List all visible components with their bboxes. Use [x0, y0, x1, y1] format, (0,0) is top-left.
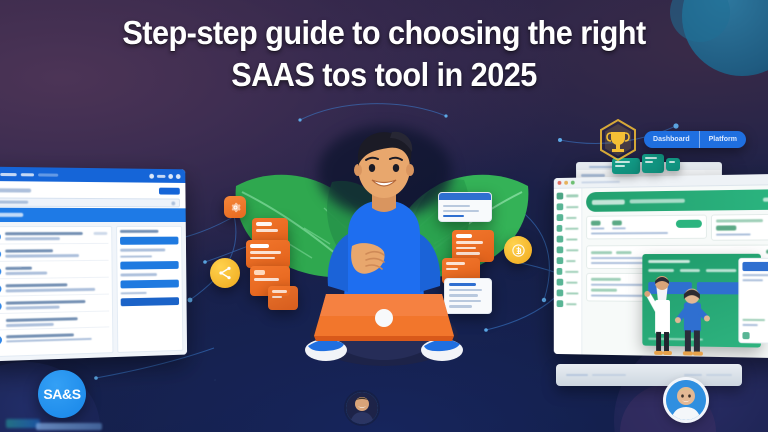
- floating-card-orange-4[interactable]: [268, 286, 298, 310]
- nav-label-a: [157, 174, 166, 177]
- search-icon: [171, 201, 175, 205]
- hero-banner: Step-step guide to choosing the right SA…: [0, 0, 768, 432]
- headline-line-1: Step-step guide to choosing the right: [51, 12, 717, 54]
- list-item[interactable]: [0, 281, 109, 297]
- saas-brand-label: SA&S: [43, 386, 80, 402]
- nav-item-home[interactable]: [0, 172, 16, 175]
- list-item[interactable]: [0, 298, 109, 315]
- avatar-center[interactable]: [346, 392, 378, 424]
- sidebar-item-docs[interactable]: [557, 289, 579, 296]
- saas-brand-caption: [36, 423, 102, 430]
- notification-icon[interactable]: [149, 173, 154, 178]
- side-action-assign[interactable]: [120, 237, 179, 245]
- right-dashboard-stand: [556, 364, 742, 386]
- sidebar-item-reports[interactable]: [557, 214, 579, 221]
- list-item[interactable]: [0, 247, 108, 262]
- left-dashboard-nav-actions: [149, 173, 180, 178]
- nav-item-reports[interactable]: [21, 173, 34, 176]
- saas-brand-badge[interactable]: SA&S: [38, 370, 86, 418]
- left-dashboard-mockup[interactable]: [0, 167, 187, 362]
- headline-line-2: SAAS tos tool in 2025: [51, 54, 717, 96]
- coin-glyph: [511, 243, 526, 258]
- search-input[interactable]: [0, 197, 180, 207]
- sidebar-item-calls[interactable]: [557, 257, 579, 264]
- row-icon: [0, 250, 1, 259]
- summary-card[interactable]: [711, 214, 768, 241]
- list-item[interactable]: [0, 330, 109, 347]
- floating-card-orange-2[interactable]: [246, 240, 290, 268]
- row-icon: [0, 267, 1, 276]
- breadcrumb: [0, 188, 31, 192]
- coin-icon[interactable]: [504, 236, 532, 264]
- sidebar-item-billing[interactable]: [557, 246, 579, 253]
- list-item[interactable]: [0, 264, 108, 280]
- list-item[interactable]: [0, 314, 109, 330]
- avatar-right-portrait: [666, 380, 706, 420]
- side-action-extra[interactable]: [120, 297, 179, 306]
- left-dashboard-toolbar: [0, 181, 186, 208]
- trophy-hexagon-icon[interactable]: [596, 118, 640, 162]
- settings-gear-icon[interactable]: [224, 196, 246, 218]
- left-dashboard-section-header: [0, 208, 186, 222]
- share-network-icon[interactable]: [210, 258, 240, 288]
- page-title: Step-step guide to choosing the right SA…: [0, 12, 768, 96]
- teal-card-3[interactable]: [666, 158, 680, 171]
- sidebar-brand: [557, 192, 579, 199]
- sidebar-item-home[interactable]: [557, 203, 579, 210]
- upgrade-button[interactable]: [676, 220, 702, 228]
- list-item[interactable]: [0, 230, 108, 245]
- row-icon: [0, 284, 2, 293]
- new-record-button[interactable]: [159, 188, 180, 195]
- right-dashboard-figures: [636, 272, 728, 358]
- sidebar-item-export[interactable]: [557, 300, 579, 307]
- sidebar-item-settings[interactable]: [557, 268, 579, 275]
- sidebar-item-contacts[interactable]: [557, 236, 579, 243]
- work-items-list[interactable]: [0, 226, 113, 357]
- side-panel-user-icon: [742, 332, 749, 339]
- avatar-right[interactable]: [666, 380, 706, 420]
- right-dashboard-banner: [586, 189, 768, 212]
- side-panel-header: [742, 262, 768, 271]
- dashboard-button[interactable]: Dashboard: [644, 131, 699, 148]
- row-icon: [0, 302, 2, 311]
- gear-glyph: [229, 201, 242, 214]
- help-icon[interactable]: [168, 174, 173, 179]
- share-glyph: [217, 265, 233, 281]
- right-dashboard-mockup[interactable]: [554, 174, 768, 358]
- right-dashboard-sidebar[interactable]: [554, 188, 583, 354]
- corner-artifact: [6, 419, 40, 428]
- man-with-laptop-illustration: [296, 122, 472, 370]
- teal-card-2[interactable]: [642, 154, 664, 173]
- side-action-approve[interactable]: [120, 261, 179, 270]
- avatar-center-portrait: [346, 392, 378, 424]
- side-action-archive[interactable]: [120, 279, 179, 288]
- row-icon: [0, 335, 2, 344]
- row-icon: [0, 232, 1, 241]
- left-dashboard-side-panel[interactable]: [116, 226, 184, 353]
- sidebar-item-team[interactable]: [557, 279, 579, 286]
- right-dashboard-side-panel[interactable]: [738, 258, 768, 344]
- stat-card-group[interactable]: [586, 215, 707, 240]
- avatar-menu-icon[interactable]: [176, 174, 181, 179]
- nav-item-tickets[interactable]: [38, 173, 58, 176]
- left-dashboard-body: [0, 222, 187, 362]
- sidebar-item-boards[interactable]: [557, 225, 579, 232]
- top-right-button-group[interactable]: Dashboard Platform: [644, 131, 746, 148]
- platform-button[interactable]: Platform: [699, 131, 746, 148]
